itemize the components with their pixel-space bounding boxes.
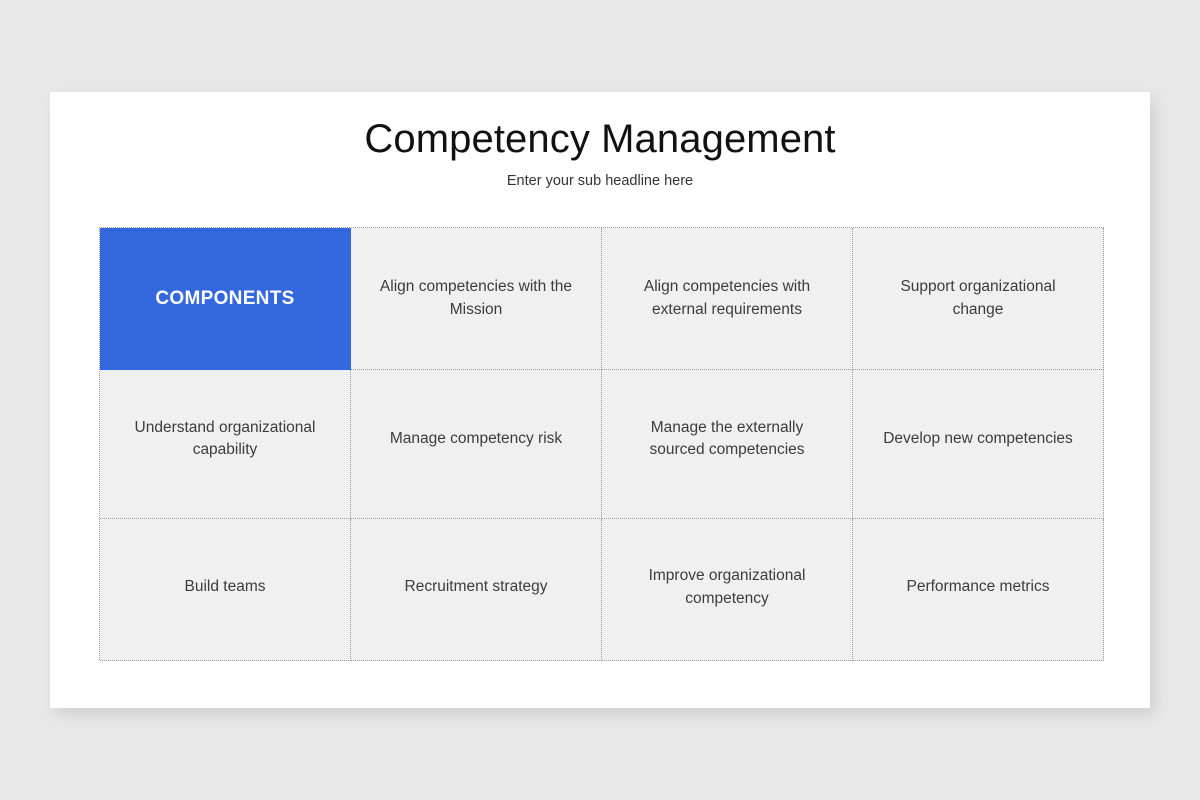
matrix-cell-r1c2[interactable]: Align competencies with the Mission (351, 228, 602, 370)
matrix-cell-label: Performance metrics (875, 576, 1081, 598)
matrix-cell-label: Develop new competencies (875, 428, 1081, 450)
matrix-cell-r3c3[interactable]: Improve organizational competency (602, 519, 853, 661)
matrix-cell-label: Build teams (122, 576, 328, 598)
matrix-cell-label: Manage the externally sourced competenci… (624, 417, 830, 462)
matrix-cell-r3c1[interactable]: Build teams (100, 519, 351, 661)
slide-canvas: Competency Management Enter your sub hea… (50, 92, 1150, 708)
matrix-cell-r1c3[interactable]: Align competencies with external require… (602, 228, 853, 370)
matrix-cell-label: Improve organizational competency (624, 565, 830, 610)
matrix-cell-r3c4[interactable]: Performance metrics (853, 519, 1104, 661)
matrix-cell-label: Recruitment strategy (373, 576, 579, 598)
page-subtitle: Enter your sub headline here (50, 173, 1150, 189)
matrix-cell-r2c4[interactable]: Develop new competencies (853, 370, 1104, 519)
matrix-cell-r2c1[interactable]: Understand organizational capability (100, 370, 351, 519)
matrix-cell-r1c4[interactable]: Support organizational change (853, 228, 1104, 370)
matrix-cell-r2c3[interactable]: Manage the externally sourced competenci… (602, 370, 853, 519)
page-title: Competency Management (50, 117, 1150, 162)
matrix-cell-label: Manage competency risk (373, 428, 579, 450)
matrix-cell-label: Understand organizational capability (122, 417, 328, 462)
matrix-cell-r1c1[interactable]: COMPONENTS (100, 228, 351, 370)
competency-matrix: COMPONENTS Align competencies with the M… (99, 227, 1104, 660)
matrix-cell-r3c2[interactable]: Recruitment strategy (351, 519, 602, 661)
matrix-cell-r2c2[interactable]: Manage competency risk (351, 370, 602, 519)
matrix-cell-label: Align competencies with external require… (624, 276, 830, 321)
matrix-cell-label: COMPONENTS (122, 285, 328, 313)
matrix-cell-label: Support organizational change (875, 276, 1081, 321)
matrix-cell-label: Align competencies with the Mission (373, 276, 579, 321)
